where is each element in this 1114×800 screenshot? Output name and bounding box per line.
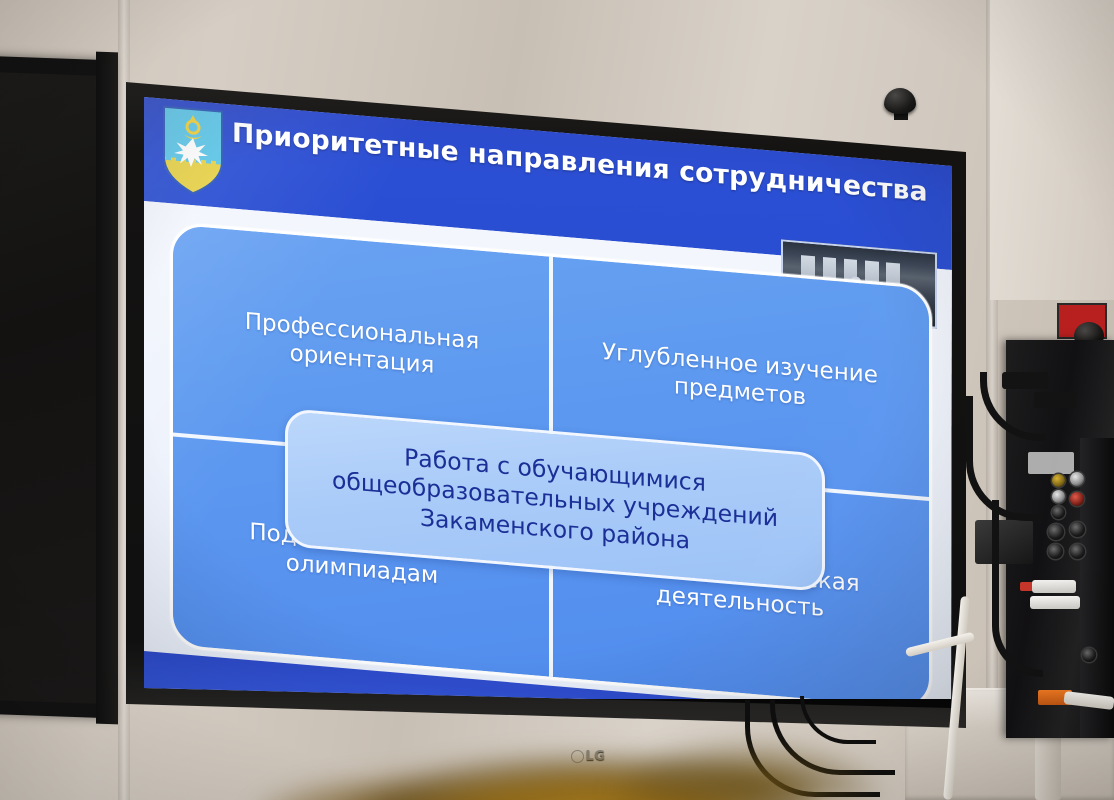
rca-jack-white	[1070, 472, 1084, 486]
slide-canvas: Приоритетные направления сотрудничества	[144, 97, 952, 699]
priorities-matrix: Профессиональная ориентация Углубленное …	[170, 221, 932, 699]
quadrant-label: Углубленное изучение предметов	[577, 336, 903, 420]
rca-jack-white	[1052, 490, 1065, 503]
rca-jack-yellow	[1052, 474, 1065, 487]
audio-jack	[1082, 648, 1096, 662]
photo-scene: Приоритетные направления сотрудничества	[0, 0, 1114, 800]
secondary-monitor-off	[0, 56, 110, 718]
rca-jack	[1052, 506, 1065, 519]
coax-jack	[1070, 522, 1085, 537]
rca-jack-red	[1070, 492, 1084, 506]
secondary-monitor-screen	[0, 72, 100, 704]
coat-of-arms-icon	[162, 105, 224, 198]
rack-cable	[992, 500, 1043, 677]
coax-jack	[1048, 524, 1064, 540]
quadrant-label: Профессиональная ориентация	[199, 304, 525, 388]
audio-jack	[1048, 544, 1063, 559]
webcam-icon	[884, 88, 916, 114]
central-focus-label: Работа с обучающимися общеобразовательны…	[288, 433, 822, 567]
audio-jack	[1070, 544, 1085, 559]
wall-panel-right	[990, 0, 1114, 300]
presentation-slide: Приоритетные направления сотрудничества	[144, 97, 952, 699]
main-tv: Приоритетные направления сотрудничества	[104, 56, 994, 736]
foreground-person-blurred	[600, 700, 930, 800]
